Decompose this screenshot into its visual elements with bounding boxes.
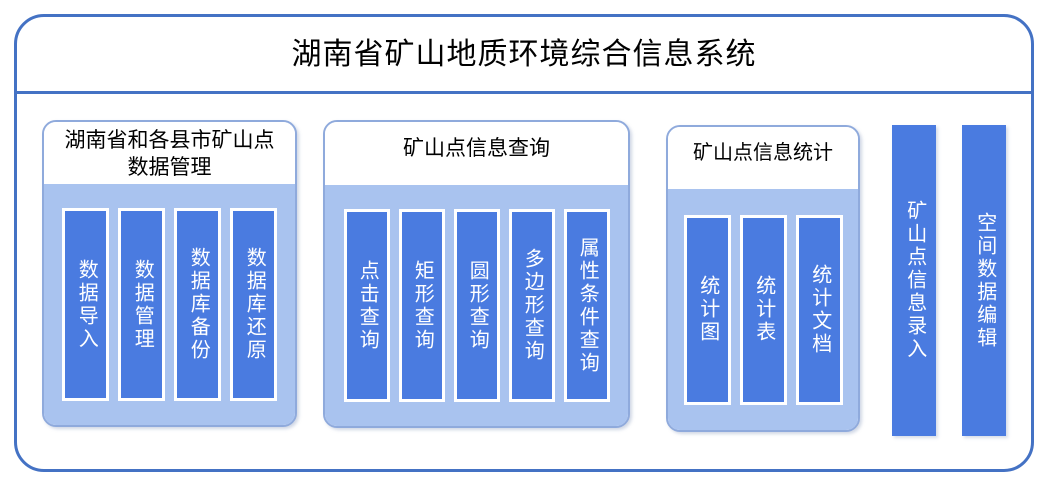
module-title-info-statistics: 矿山点信息统计 (668, 127, 858, 189)
page-title: 湖南省矿山地质环境综合信息系统 (14, 30, 1034, 80)
module-panel-info-query[interactable]: 矿山点信息查询 点击查询 矩形查询 圆形查询 多边形查询 属性条件查询 (323, 120, 630, 428)
module-item-click-query[interactable]: 点击查询 (344, 209, 390, 402)
module-item-data-import[interactable]: 数据导入 (62, 208, 109, 401)
module-item-label: 矩形查询 (410, 260, 434, 352)
module-item-circle-query[interactable]: 圆形查询 (454, 209, 500, 402)
module-item-label: 数据库备份 (186, 247, 210, 362)
module-item-label: 统计文档 (807, 264, 831, 356)
module-title-data-management: 湖南省和各县市矿山点 数据管理 (44, 122, 295, 184)
module-item-stat-table[interactable]: 统计表 (740, 215, 787, 405)
module-item-label: 属性条件查询 (575, 237, 599, 375)
module-info-entry[interactable]: 矿山点信息录入 (892, 125, 936, 436)
module-item-stat-document[interactable]: 统计文档 (796, 215, 843, 405)
module-item-db-restore[interactable]: 数据库还原 (230, 208, 277, 401)
module-items-info-query: 点击查询 矩形查询 圆形查询 多边形查询 属性条件查询 (344, 209, 610, 402)
module-panel-data-management[interactable]: 湖南省和各县市矿山点 数据管理 数据导入 数据管理 数据库备份 数据库还原 (42, 120, 297, 427)
module-panel-info-statistics[interactable]: 矿山点信息统计 统计图 统计表 统计文档 (666, 125, 860, 432)
module-item-polygon-query[interactable]: 多边形查询 (509, 209, 555, 402)
module-items-data-management: 数据导入 数据管理 数据库备份 数据库还原 (62, 208, 277, 401)
module-item-label: 多边形查询 (520, 248, 544, 363)
module-items-info-statistics: 统计图 统计表 统计文档 (684, 215, 843, 405)
module-item-label: 统计图 (695, 275, 719, 344)
module-item-attribute-query[interactable]: 属性条件查询 (564, 209, 610, 402)
module-item-label: 数据管理 (130, 259, 154, 351)
module-info-entry-label: 矿山点信息录入 (902, 200, 926, 361)
module-item-data-manage[interactable]: 数据管理 (118, 208, 165, 401)
module-spatial-edit[interactable]: 空间数据编辑 (962, 125, 1006, 436)
module-item-rectangle-query[interactable]: 矩形查询 (399, 209, 445, 402)
module-item-label: 数据库还原 (242, 247, 266, 362)
module-spatial-edit-label: 空间数据编辑 (972, 212, 996, 350)
module-title-info-query: 矿山点信息查询 (325, 122, 628, 185)
module-item-label: 点击查询 (355, 260, 379, 352)
title-divider (14, 91, 1034, 94)
module-item-label: 圆形查询 (465, 260, 489, 352)
module-item-db-backup[interactable]: 数据库备份 (174, 208, 221, 401)
module-item-label: 统计表 (751, 275, 775, 344)
module-item-stat-chart[interactable]: 统计图 (684, 215, 731, 405)
module-item-label: 数据导入 (74, 259, 98, 351)
diagram-canvas: 湖南省矿山地质环境综合信息系统 湖南省和各县市矿山点 数据管理 数据导入 数据管… (0, 0, 1054, 488)
